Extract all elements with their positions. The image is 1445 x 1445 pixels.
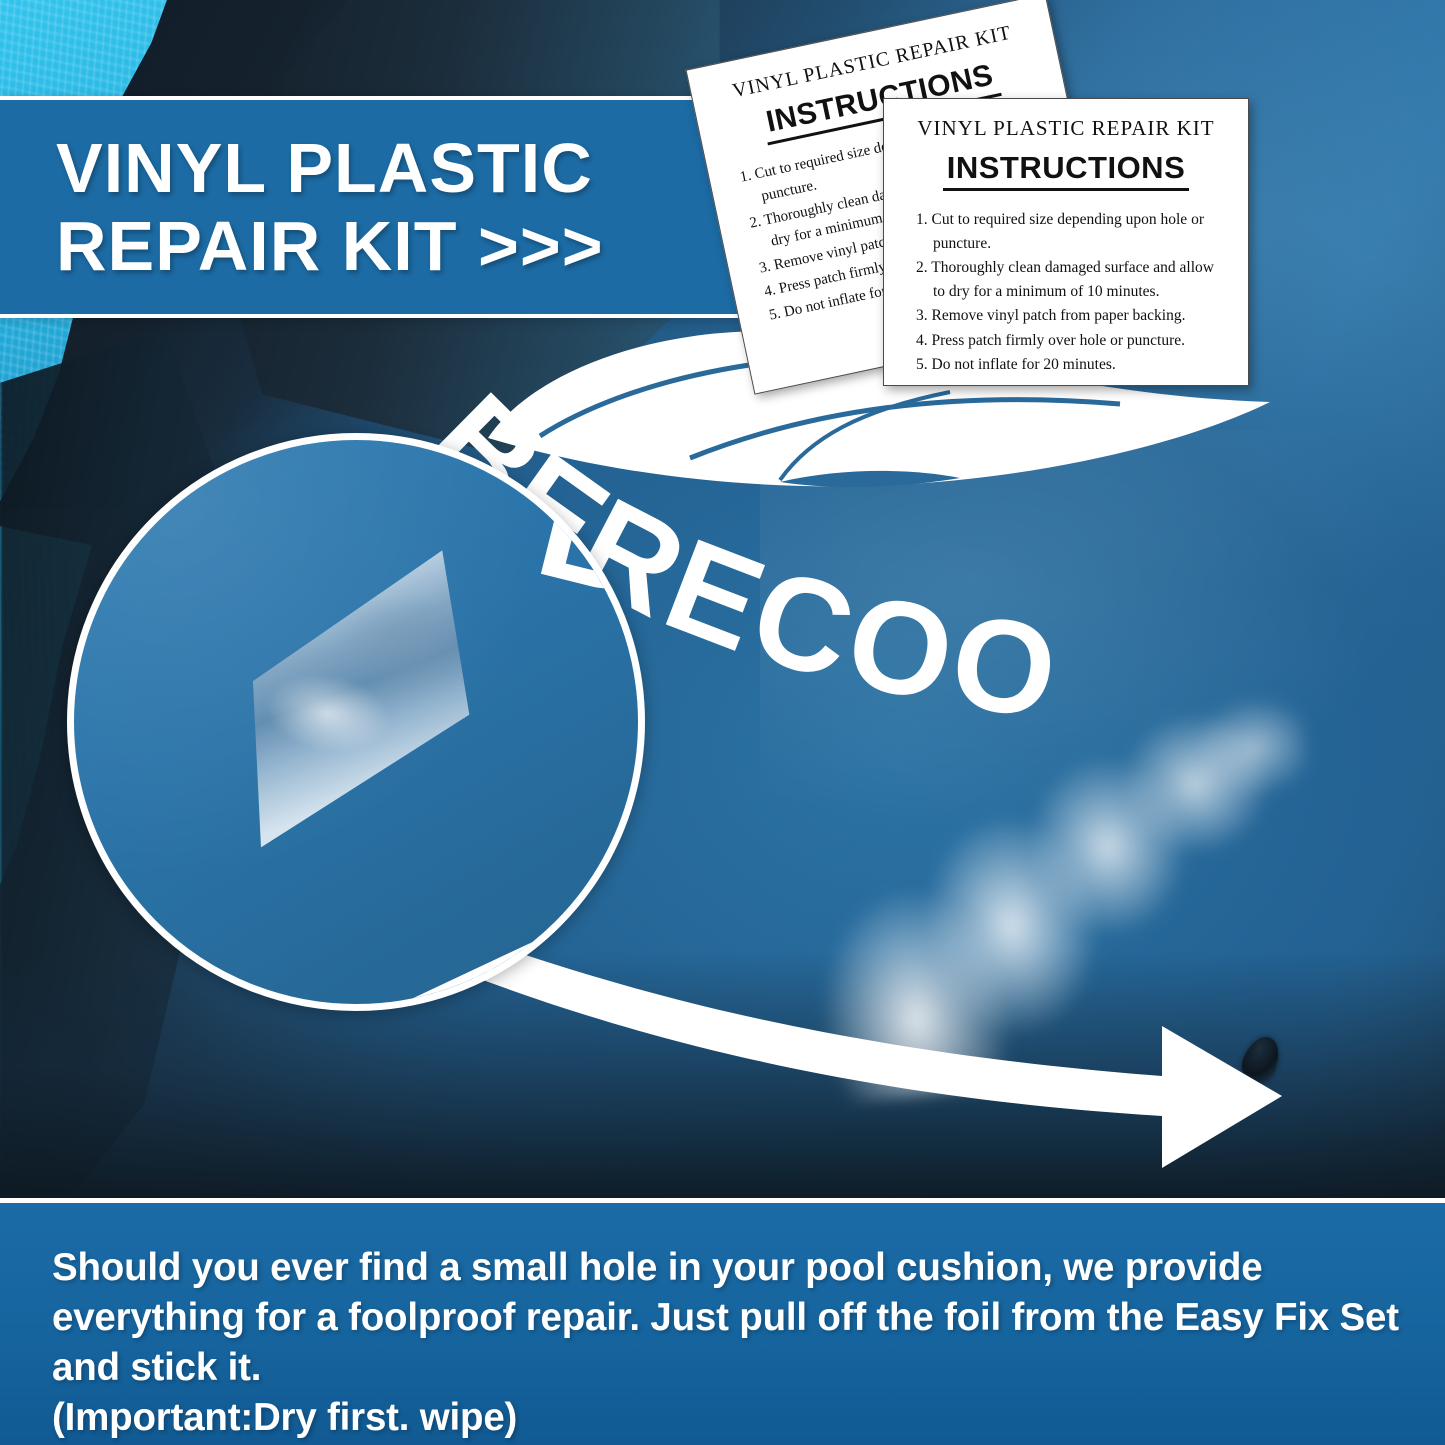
magnifier-lens: B (67, 433, 645, 1011)
list-item: 2. Thoroughly clean damaged surface and … (916, 256, 1222, 303)
product-marketing-image: BERECOO B VINYL PLASTIC REPAIR KIT >>> V… (0, 0, 1445, 1445)
list-item: 1. Cut to required size depending upon h… (916, 208, 1222, 255)
list-item: 5. Do not inflate for 20 minutes. (916, 353, 1222, 377)
instruction-card-front: VINYL PLASTIC REPAIR KIT INSTRUCTIONS 1.… (883, 98, 1249, 386)
banner-line-1: VINYL PLASTIC (56, 129, 742, 207)
title-banner: VINYL PLASTIC REPAIR KIT >>> (0, 96, 742, 318)
vinyl-patch-sheen (198, 518, 522, 884)
caption-text: Should you ever find a small hole in you… (52, 1243, 1405, 1443)
card-front-title: VINYL PLASTIC REPAIR KIT (884, 116, 1248, 141)
caption-panel: Should you ever find a small hole in you… (0, 1198, 1445, 1445)
card-front-heading: INSTRUCTIONS (884, 150, 1248, 186)
banner-line-2: REPAIR KIT >>> (56, 207, 742, 285)
card-front-steps: 1. Cut to required size depending upon h… (916, 208, 1222, 377)
caption-note: (Important:Dry first. wipe) (52, 1396, 517, 1439)
list-item: 4. Press patch firmly over hole or punct… (916, 329, 1222, 353)
list-item: 3. Remove vinyl patch from paper backing… (916, 304, 1222, 328)
